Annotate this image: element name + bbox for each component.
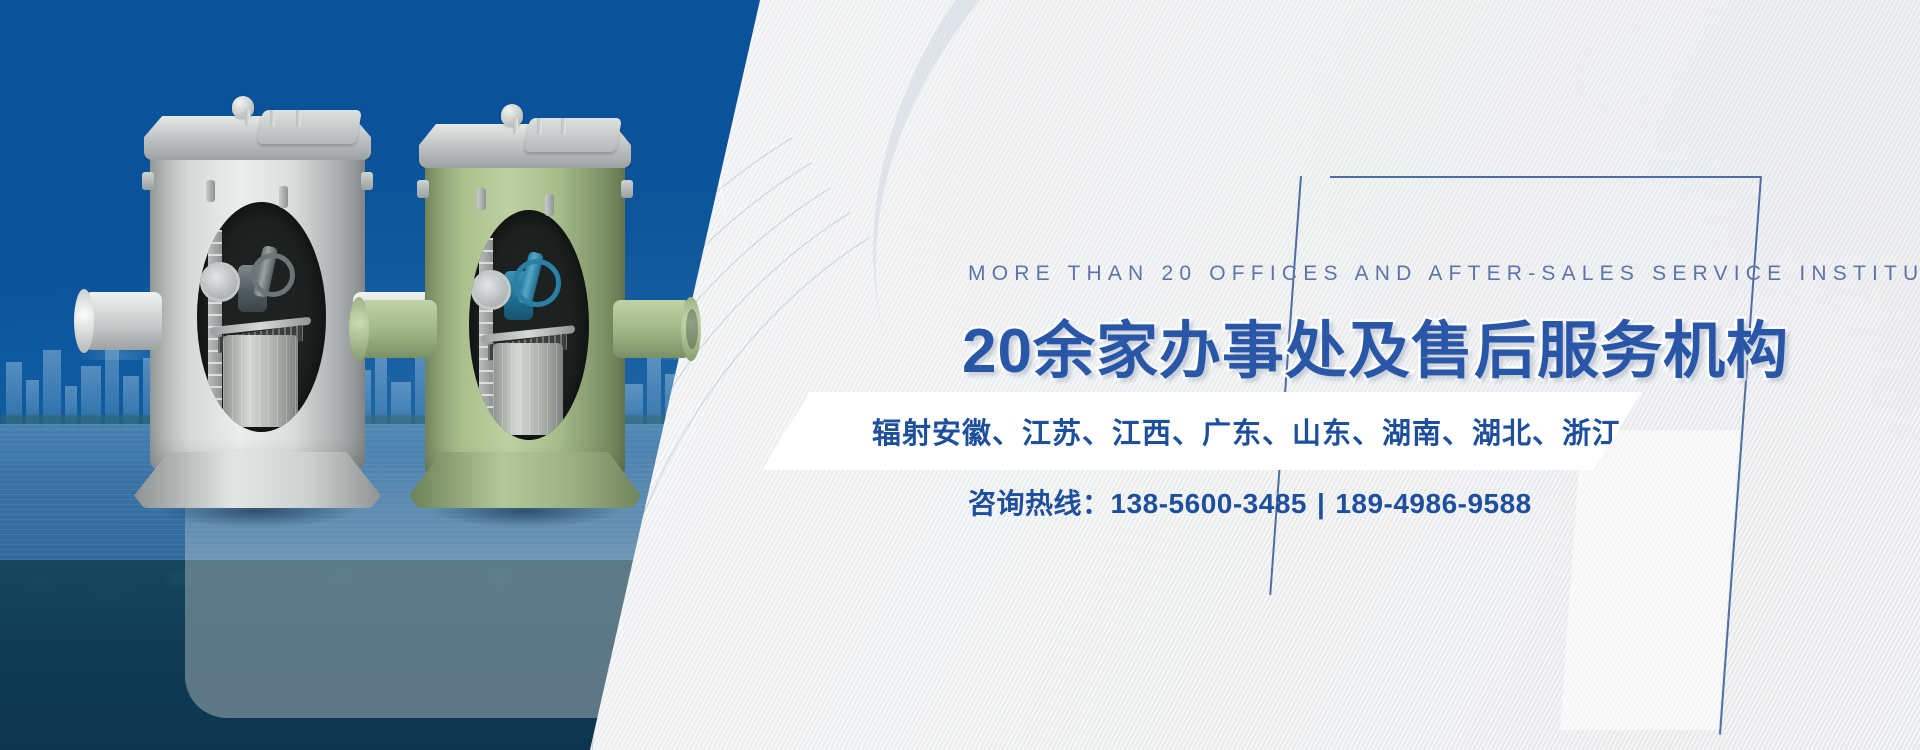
- product-vent-cap-icon: [501, 104, 523, 126]
- hotline-secondary-number[interactable]: 189-4986-9588: [1335, 488, 1531, 519]
- page-title: 20余家办事处及售后服务机构: [962, 300, 1789, 390]
- hotline-primary-number[interactable]: 138-5600-3485: [1111, 488, 1307, 519]
- product-base: [134, 452, 381, 508]
- internal-flange: [471, 270, 511, 310]
- internal-valve-assembly: [231, 239, 298, 326]
- product-lifting-lug: [621, 180, 633, 198]
- coverage-banner: 辐射安徽、江苏、江西、广东、山东、湖南、湖北、浙江、福建等多个省份: [762, 392, 1642, 470]
- hotline-label: 咨询热线：: [968, 488, 1111, 519]
- product-stem: [513, 118, 518, 134]
- product-bracket: [545, 194, 554, 216]
- hotline-separator: |: [1307, 488, 1335, 519]
- product-grey-pumping-station: [150, 110, 365, 490]
- product-stem: [296, 110, 301, 126]
- product-green-pumping-station: [425, 118, 625, 490]
- product-vent-cap-icon: [232, 96, 254, 118]
- promo-banner: MORE THAN 20 OFFICES AND AFTER-SALES SER…: [0, 0, 1920, 750]
- decorative-trapezoid-top-line: [1330, 176, 1760, 178]
- product-bracket: [279, 186, 288, 208]
- product-stem: [561, 118, 566, 134]
- product-lifting-lug: [417, 180, 429, 198]
- product-stem: [270, 110, 275, 126]
- internal-ladder: [479, 238, 493, 417]
- product-outlet-pipe: [613, 300, 691, 358]
- hotline-row: 咨询热线：138-5600-3485|189-4986-9588: [968, 482, 1532, 522]
- internal-tank: [223, 335, 298, 427]
- product-bracket: [206, 180, 215, 202]
- product-cutaway-window: [469, 210, 589, 440]
- product-stem: [537, 118, 542, 134]
- product-stem: [245, 110, 250, 126]
- internal-tank: [493, 343, 563, 435]
- product-cutaway-window: [197, 202, 326, 432]
- product-inlet-pipe: [359, 300, 437, 358]
- product-base: [409, 452, 641, 508]
- internal-flange: [200, 262, 240, 302]
- product-lifting-lug: [142, 172, 154, 190]
- product-inlet-pipe: [84, 292, 162, 350]
- product-bracket: [477, 188, 486, 210]
- product-lifting-lug: [361, 172, 373, 190]
- decorative-ghost-parallelogram: [1560, 430, 1740, 730]
- english-subtitle: MORE THAN 20 OFFICES AND AFTER-SALES SER…: [968, 262, 1920, 286]
- internal-ladder: [208, 230, 222, 409]
